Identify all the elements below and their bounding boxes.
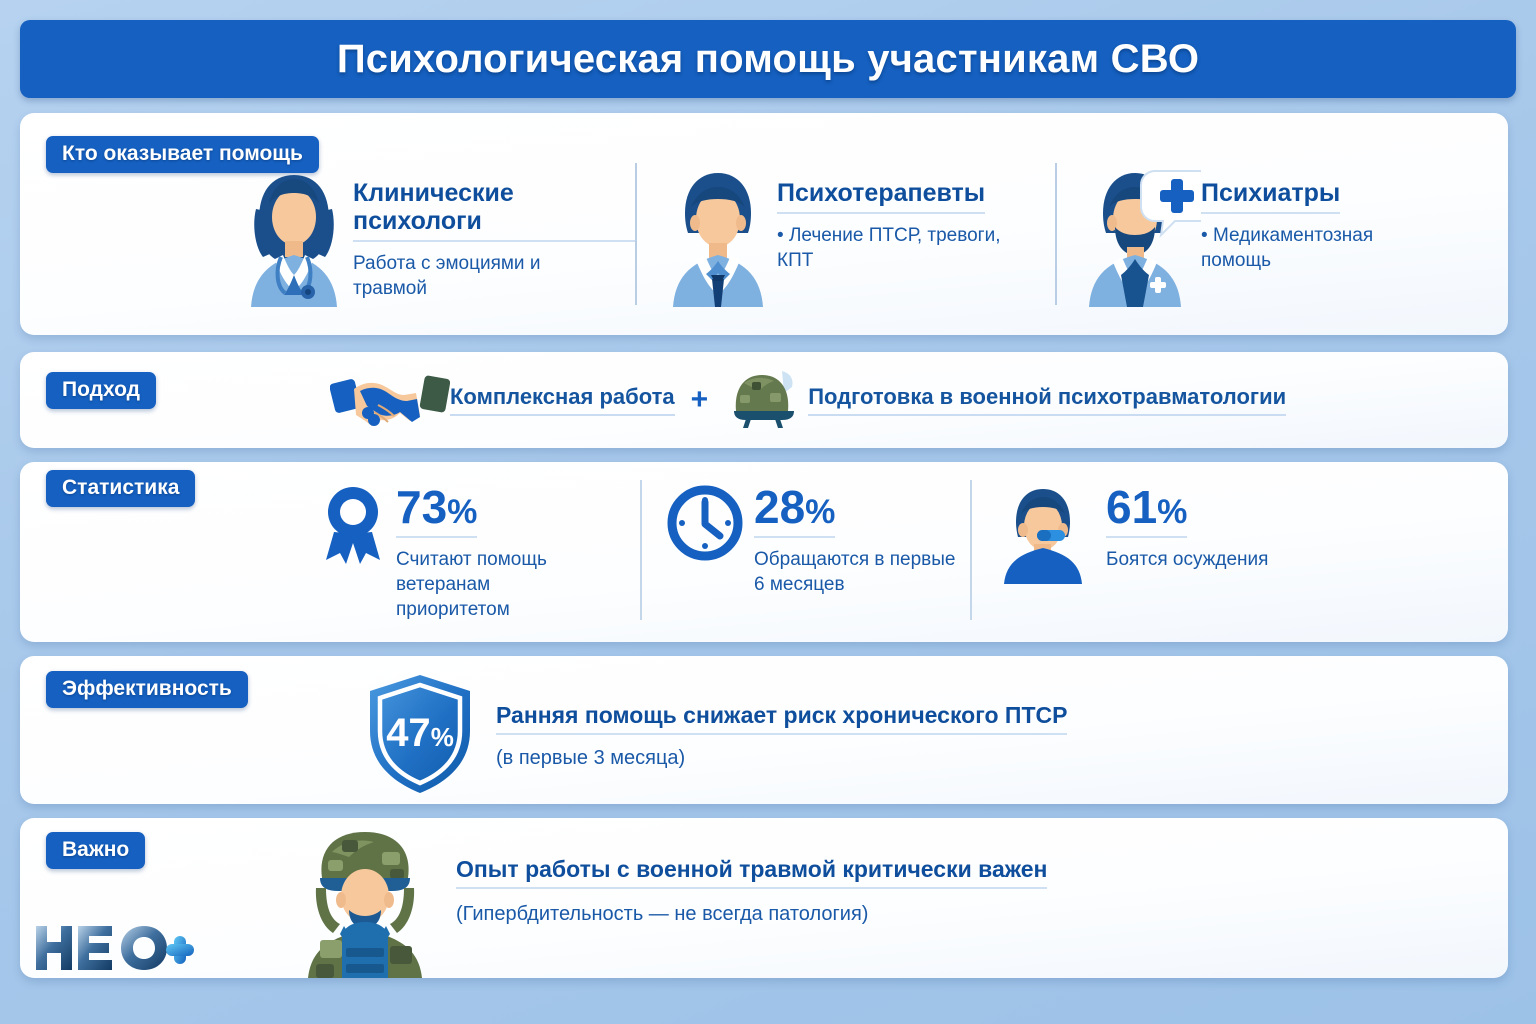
male-therapist-icon (659, 157, 777, 307)
card-statistics: Статистика 73% Считают помощь ветеранам … (20, 462, 1508, 642)
stat-text: 28% Обращаются в первые 6 месяцев (754, 484, 969, 597)
stat-value: 28% (754, 486, 835, 538)
handshake-icon (330, 367, 450, 434)
section-badge-approach: Подход (46, 372, 156, 409)
bullet-dot: • (777, 225, 789, 246)
who-item-psychiatrists[interactable]: Психиатры • Медикаментозная помощь (1055, 157, 1493, 322)
effectiveness-subline: (в первые 3 месяца) (496, 747, 1067, 770)
statistics-row: 73% Считают помощь ветеранам приоритетом… (320, 472, 1490, 637)
who-item-desc: • Лечение ПТСР, тревоги, КПТ (777, 223, 1002, 273)
stat-unit: % (447, 493, 477, 531)
card-approach: Подход Комплексная работа + (20, 352, 1508, 448)
who-helps-row: Клинические психологи Работа с эмоциями … (235, 157, 1493, 322)
card-important: Важно (20, 818, 1508, 978)
stat-value: 73% (396, 486, 477, 538)
who-item-clinical-psychologists[interactable]: Клинические психологи Работа с эмоциями … (235, 157, 635, 322)
stat-unit: % (805, 493, 835, 531)
logo-text-neo (36, 926, 167, 970)
who-item-psychotherapists[interactable]: Психотерапевты • Лечение ПТСР, тревоги, … (635, 157, 1055, 322)
section-badge-statistics: Статистика (46, 470, 195, 507)
clock-icon (666, 484, 744, 567)
page-title: Психологическая помощь участникам СВО (337, 37, 1199, 82)
who-item-text: Психотерапевты • Лечение ПТСР, тревоги, … (777, 157, 1002, 273)
stat-text: 61% Боятся осуждения (1106, 484, 1268, 572)
who-item-desc: • Медикаментозная помощь (1201, 223, 1426, 273)
shield-unit: % (431, 722, 454, 752)
who-item-desc-text: Медикаментозная помощь (1201, 225, 1373, 271)
military-helmet-icon (722, 367, 808, 434)
approach-left-label: Комплексная работа (450, 384, 675, 416)
stat-value: 61% (1106, 486, 1187, 538)
stat-item-61[interactable]: 61% Боятся осуждения (970, 472, 1390, 637)
effectiveness-text: Ранняя помощь снижает риск хронического … (496, 672, 1067, 770)
bearded-psychiatrist-icon (1083, 157, 1201, 307)
card-who-helps: Кто оказывает помощь (20, 113, 1508, 335)
shield-value: 47 (386, 711, 431, 755)
page-title-bar: Психологическая помощь участникам СВО (20, 20, 1516, 98)
card-effectiveness: Эффективность 47% Ранняя помощь снижает … (20, 656, 1508, 804)
bullet-dot: • (1201, 225, 1213, 246)
approach-right-label: Подготовка в военной психотравматологии (808, 384, 1286, 416)
who-item-desc: Работа с эмоциями и травмой (353, 251, 578, 301)
important-subline: (Гипербдительность — не всегда патология… (456, 903, 1047, 926)
stat-unit: % (1157, 493, 1187, 531)
stat-item-73[interactable]: 73% Считают помощь ветеранам приоритетом (320, 472, 640, 637)
stat-label: Боятся осуждения (1106, 547, 1268, 572)
soldier-icon (290, 822, 440, 983)
brand-logo[interactable]: НЕО (32, 920, 202, 976)
stat-text: 73% Считают помощь ветеранам приоритетом (396, 484, 581, 622)
approach-row: Комплексная работа + Подготовка в военно… (330, 366, 1286, 434)
who-item-title: Клинические психологи (353, 179, 635, 242)
who-item-title: Психиатры (1201, 179, 1340, 214)
who-item-title: Психотерапевты (777, 179, 985, 214)
logo-plus-icon (166, 936, 194, 964)
who-item-desc-text: Лечение ПТСР, тревоги, КПТ (777, 225, 1001, 271)
important-row: Опыт работы с военной травмой критически… (290, 822, 1047, 983)
shield-badge-icon: 47% (360, 672, 480, 799)
female-psychologist-icon (235, 157, 353, 307)
approach-plus-sign: + (691, 383, 709, 417)
stat-label: Считают помощь ветеранам приоритетом (396, 547, 581, 622)
section-badge-important: Важно (46, 832, 145, 869)
who-item-text: Клинические психологи Работа с эмоциями … (353, 157, 635, 301)
stat-item-28[interactable]: 28% Обращаются в первые 6 месяцев (640, 472, 970, 637)
award-ribbon-icon (320, 484, 386, 581)
important-text: Опыт работы с военной травмой критически… (456, 822, 1047, 926)
person-mask-icon (1000, 484, 1096, 589)
effectiveness-row: 47% Ранняя помощь снижает риск хроническ… (360, 672, 1067, 799)
effectiveness-headline: Ранняя помощь снижает риск хронического … (496, 702, 1067, 735)
section-badge-effectiveness: Эффективность (46, 671, 248, 708)
who-item-text: Психиатры • Медикаментозная помощь (1201, 157, 1426, 273)
important-headline: Опыт работы с военной травмой критически… (456, 856, 1047, 889)
stat-label: Обращаются в первые 6 месяцев (754, 547, 969, 597)
